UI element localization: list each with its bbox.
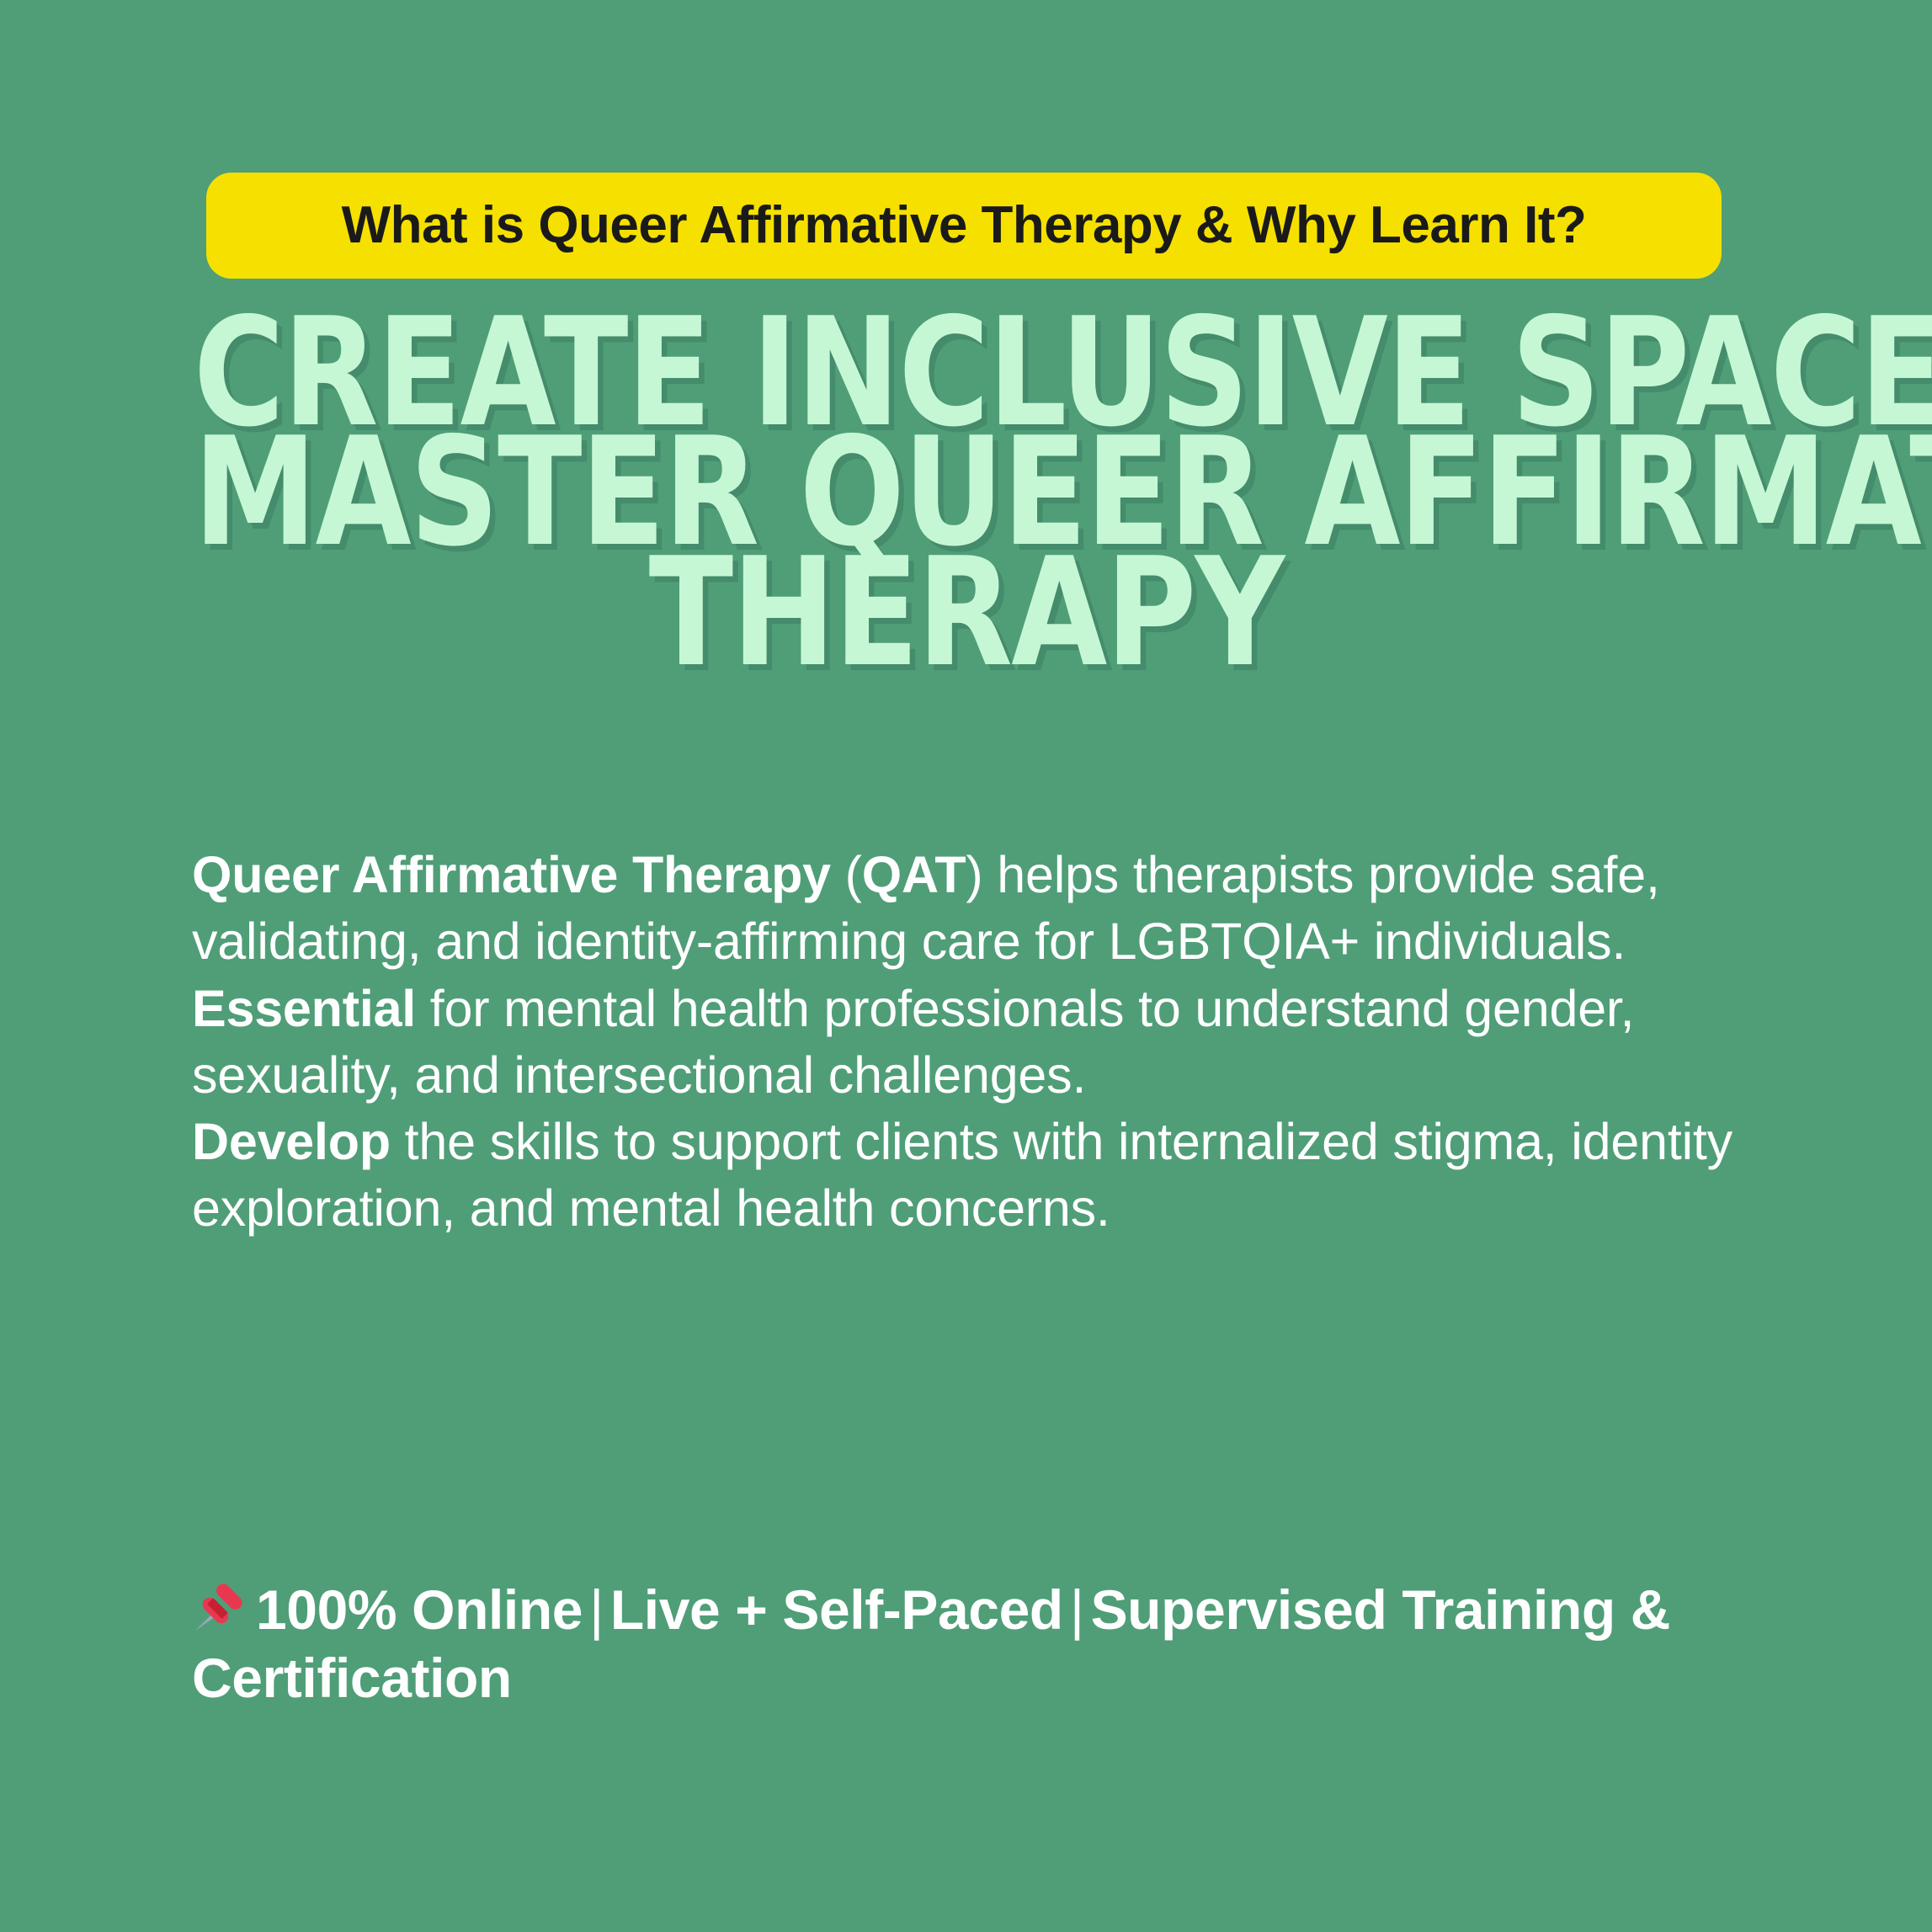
eyebrow-question-text: What is Queer Affirmative Therapy & Why … [342,200,1587,252]
pushpin-icon [192,1578,247,1634]
page-title: CREATE INCLUSIVE SPACES – MASTER QUEER A… [194,313,1738,673]
paragraph-1-bold-lead: Queer Affirmative Therapy [192,846,831,903]
poster-canvas: What is Queer Affirmative Therapy & Why … [0,0,1932,1932]
footer-separator-2: | [1063,1578,1091,1641]
paragraph-3-rest: the skills to support clients with inter… [192,1113,1732,1237]
footer-item-2: Live + Self-Paced [610,1578,1063,1641]
footer-separator-1: | [583,1578,610,1641]
body-copy: Queer Affirmative Therapy (QAT) helps th… [192,842,1758,1243]
footer-features: 100% Online|Live + Self-Paced|Supervised… [192,1576,1791,1711]
paragraph-1-open-paren: ( [831,846,862,903]
eyebrow-pill: What is Queer Affirmative Therapy & Why … [206,173,1722,279]
body-paragraph-2: Essential for mental health professional… [192,976,1758,1110]
paragraph-2-bold-lead: Essential [192,980,416,1037]
eyebrow-pill-background: What is Queer Affirmative Therapy & Why … [206,173,1722,279]
paragraph-3-bold-lead: Develop [192,1113,391,1170]
paragraph-1-bold-abbrev: QAT [862,846,966,903]
footer-item-1: 100% Online [256,1578,583,1641]
body-paragraph-1: Queer Affirmative Therapy (QAT) helps th… [192,842,1758,976]
body-paragraph-3: Develop the skills to support clients wi… [192,1109,1758,1243]
